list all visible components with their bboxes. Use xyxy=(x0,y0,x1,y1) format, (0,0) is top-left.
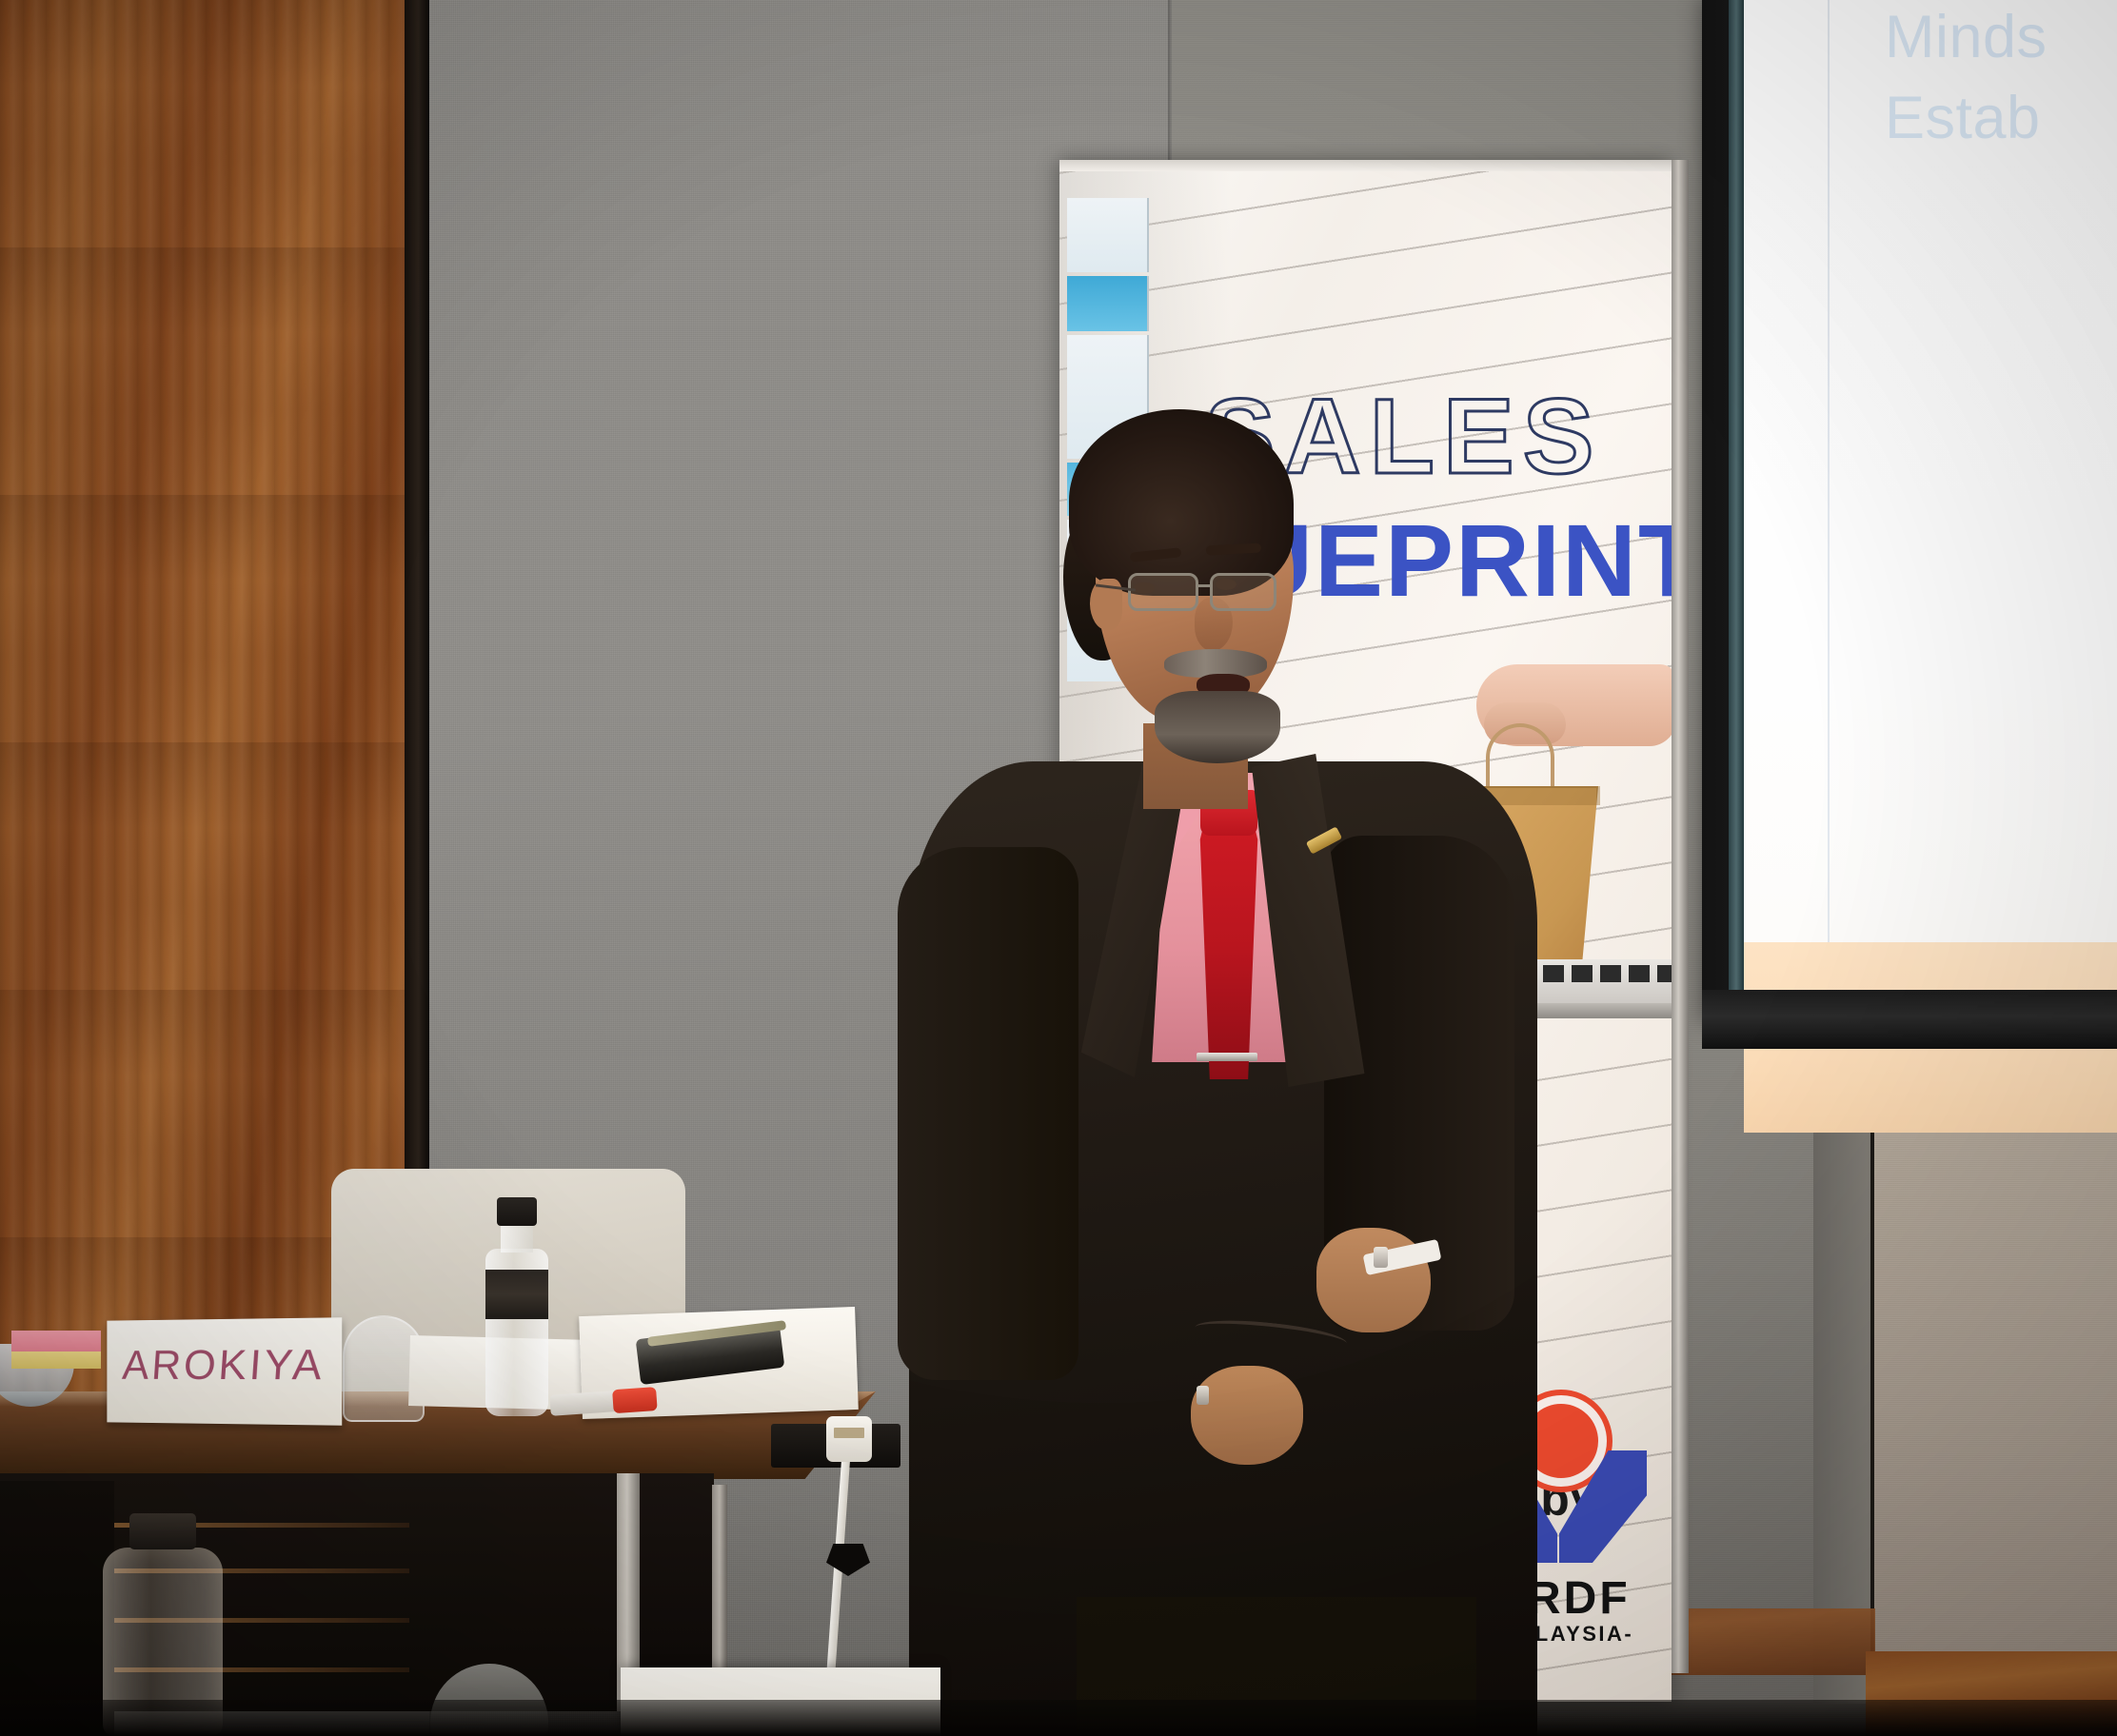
presenter xyxy=(909,409,1537,1736)
banner-glass-strip-blue-1 xyxy=(1067,276,1149,331)
tie-clip xyxy=(1197,1053,1257,1061)
slide-guide-line xyxy=(1828,0,1830,942)
foreground-dark-left xyxy=(0,1481,114,1736)
ring-left xyxy=(1197,1386,1209,1405)
projector-screen-bottom-bar xyxy=(1702,990,2117,1049)
slide-text-block: Minds Estab xyxy=(1885,2,2117,154)
foreground-bottle-cap xyxy=(129,1513,196,1549)
laptop-keyboard-row xyxy=(1514,965,1672,982)
eyeglass-bridge xyxy=(1198,584,1212,587)
power-plug xyxy=(826,1416,872,1462)
slide-text-line-2: Estab xyxy=(1885,83,2117,153)
foreground-bottom-shadow xyxy=(0,1700,2117,1736)
eyeglass-lens-right xyxy=(1210,573,1276,611)
suit-arm-left xyxy=(898,847,1078,1380)
bottle-cap xyxy=(497,1197,537,1226)
marker-cap xyxy=(612,1387,658,1413)
name-card-text: AROKIYA xyxy=(106,1341,344,1391)
plug-label xyxy=(834,1428,864,1438)
eyeglass-lens-left xyxy=(1128,573,1198,611)
slide-text-line-1: Minds xyxy=(1885,2,2117,72)
sticky-note-pink xyxy=(11,1331,101,1351)
bottle-label xyxy=(485,1270,548,1319)
beard xyxy=(1155,691,1280,763)
banner-top-lip xyxy=(1059,160,1672,171)
ring-right xyxy=(1374,1247,1388,1268)
water-bottle-on-table xyxy=(484,1197,550,1416)
sticky-note-yellow xyxy=(11,1351,101,1369)
banner-support-pole xyxy=(1672,160,1689,1673)
conference-room-scene: Minds Estab SALES BLUEPRINT ss ed by : xyxy=(0,0,2117,1736)
name-card: AROKIYA xyxy=(107,1317,342,1426)
banner-glass-strip-1 xyxy=(1067,198,1149,272)
bottle-neck xyxy=(501,1224,533,1253)
projector-screen-edge xyxy=(1729,0,1744,999)
marker-body xyxy=(549,1391,621,1416)
hand-left xyxy=(1191,1366,1303,1465)
eyeglasses xyxy=(1117,567,1294,619)
beige-wall-panel-right xyxy=(1870,1056,2117,1651)
